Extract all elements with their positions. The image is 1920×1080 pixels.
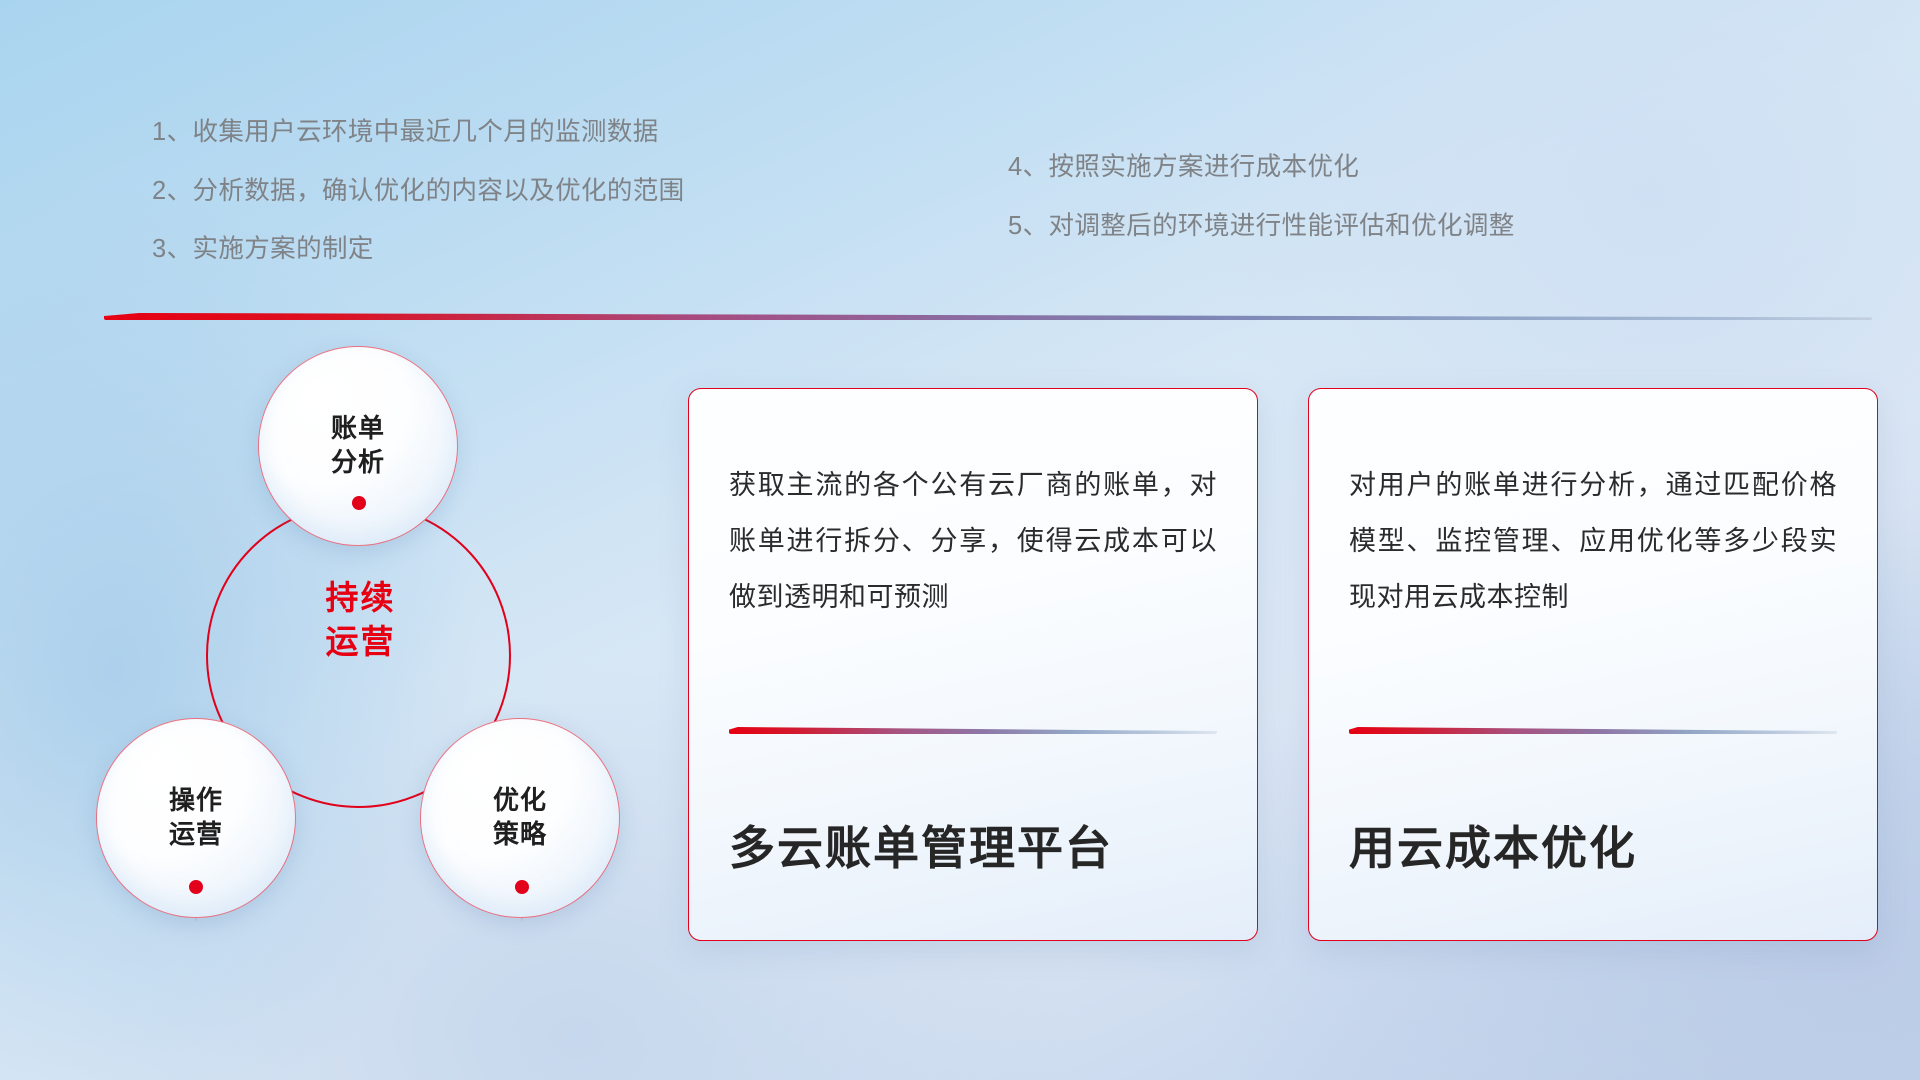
node-label-line1: 优化 (493, 784, 547, 818)
card-body-text: 对用户的账单进行分析，通过匹配价格模型、监控管理、应用优化等多少段实现对用云成本… (1349, 457, 1837, 625)
node-label-line1: 操作 (169, 784, 223, 818)
cycle-diagram: 账单 分析 操作 运营 优化 策略 持续 运营 (88, 350, 648, 950)
node-label-line2: 分析 (331, 446, 385, 480)
node-dot-top (352, 496, 366, 510)
feature-card-multicloud-billing[interactable]: 获取主流的各个公有云厂商的账单，对账单进行拆分、分享，使得云成本可以做到透明和可… (688, 388, 1258, 941)
card-body-text: 获取主流的各个公有云厂商的账单，对账单进行拆分、分享，使得云成本可以做到透明和可… (729, 457, 1217, 625)
diagram-center-label: 持续 运营 (278, 576, 443, 663)
diagram-node-bill-analysis[interactable]: 账单 分析 (258, 346, 458, 546)
node-label-line1: 账单 (331, 412, 385, 446)
steps-left-column: 1、收集用户云环境中最近几个月的监测数据 2、分析数据，确认优化的内容以及优化的… (152, 120, 685, 296)
card-title: 用云成本优化 (1349, 812, 1837, 940)
step-item-2: 2、分析数据，确认优化的内容以及优化的范围 (152, 179, 685, 205)
step-item-4: 4、按照实施方案进行成本优化 (1008, 155, 1515, 181)
feature-card-cloud-cost-optimization[interactable]: 对用户的账单进行分析，通过匹配价格模型、监控管理、应用优化等多少段实现对用云成本… (1308, 388, 1878, 941)
node-dot-right (515, 880, 529, 894)
step-item-1: 1、收集用户云环境中最近几个月的监测数据 (152, 120, 685, 146)
node-label-line2: 运营 (169, 818, 223, 852)
node-dot-left (189, 880, 203, 894)
center-label-line2: 运营 (278, 620, 443, 664)
card-divider (729, 727, 1217, 734)
step-item-3: 3、实施方案的制定 (152, 237, 685, 263)
node-label-line2: 策略 (493, 818, 547, 852)
card-divider (1349, 727, 1837, 734)
center-label-line1: 持续 (278, 576, 443, 620)
section-divider (104, 313, 1872, 320)
steps-right-column: 4、按照实施方案进行成本优化 5、对调整后的环境进行性能评估和优化调整 (1008, 155, 1515, 272)
step-item-5: 5、对调整后的环境进行性能评估和优化调整 (1008, 214, 1515, 240)
card-title: 多云账单管理平台 (729, 812, 1217, 940)
